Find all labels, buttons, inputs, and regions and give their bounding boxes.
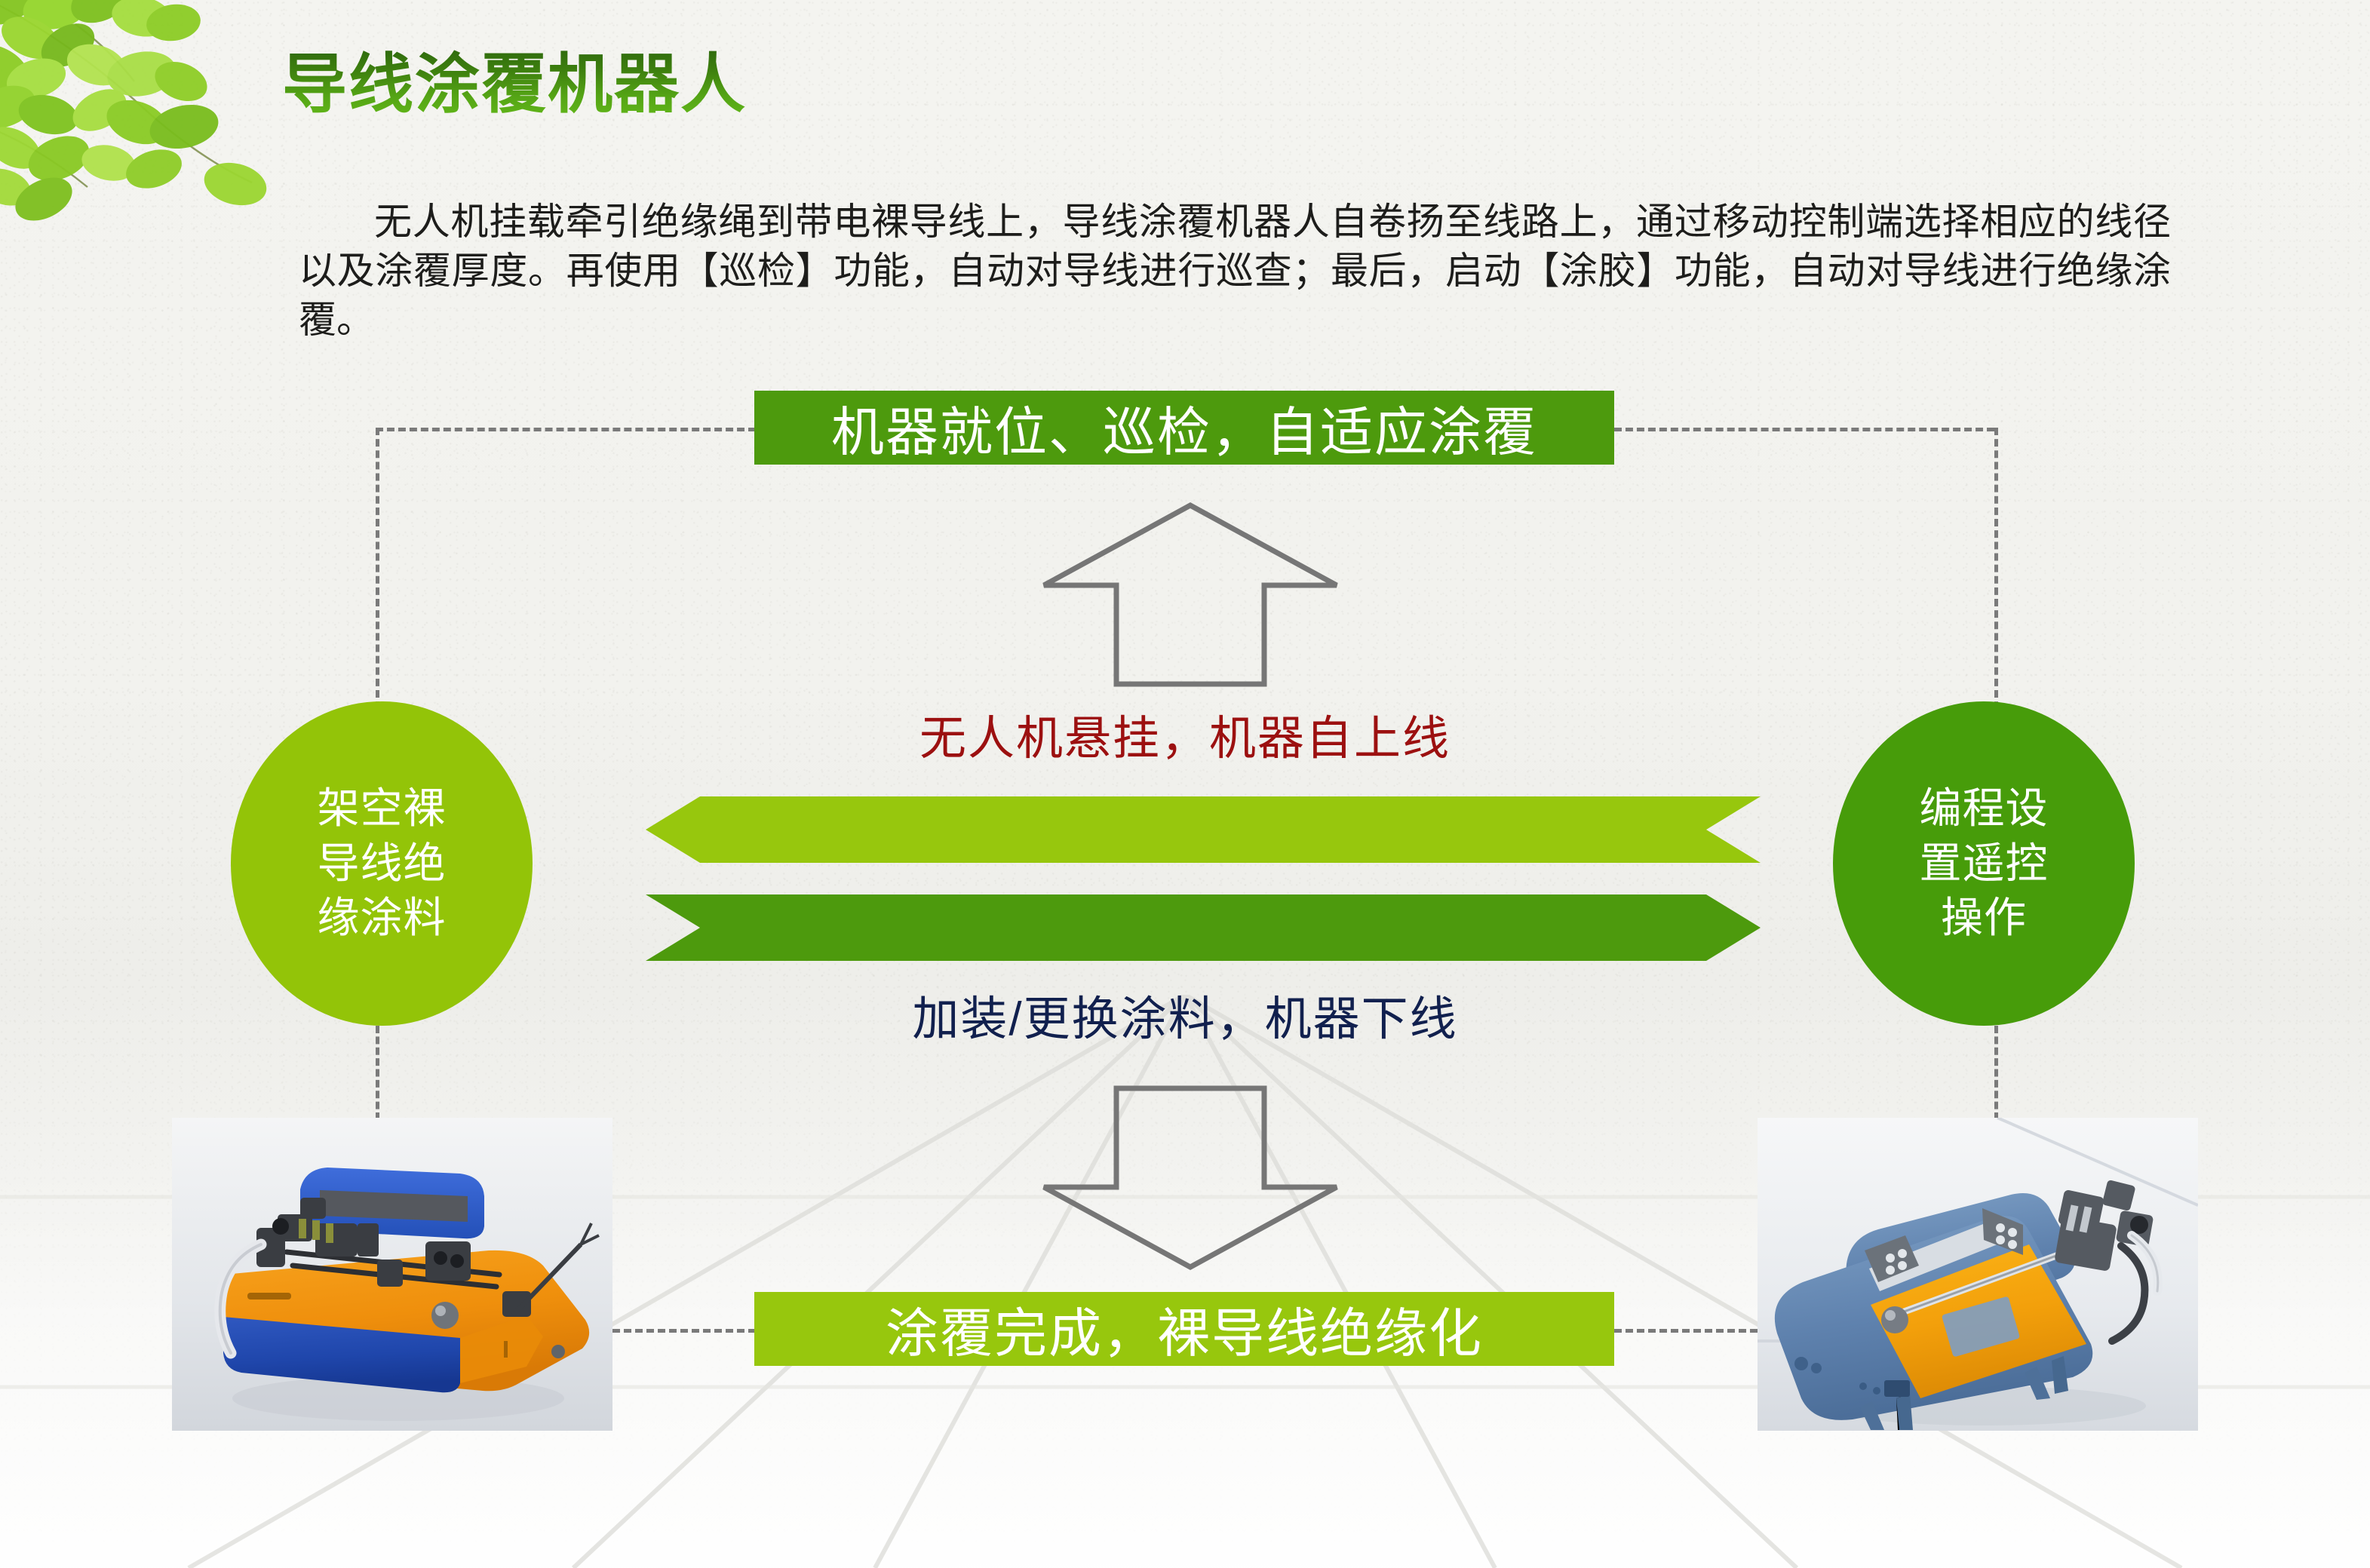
circle-right-line3: 操作	[1920, 891, 2049, 946]
circle-right-line1: 编程设	[1920, 781, 2049, 836]
circle-right-line2: 置遥控	[1920, 836, 2049, 891]
dashed-line-top-right	[1614, 428, 1994, 431]
circle-left-line2: 导线绝	[318, 836, 447, 891]
page-title: 导线涂覆机器人	[282, 50, 747, 120]
dashed-line-bottom-right	[1614, 1329, 1758, 1333]
arrow-down-icon	[1039, 1084, 1341, 1272]
circle-left-line1: 架空裸	[318, 781, 447, 836]
banner-top-label: 机器就位、巡检，自适应涂覆	[831, 390, 1537, 466]
arrow-up-svg	[1039, 501, 1341, 689]
arrow-down-svg	[1039, 1084, 1341, 1272]
intro-paragraph: 无人机挂载牵引绝缘绳到带电裸导线上，导线涂覆机器人自卷扬至线路上，通过移动控制端…	[299, 198, 2171, 345]
circle-right-remote-programming[interactable]: 编程设 置遥控 操作	[1833, 701, 2135, 1026]
robot-photo-left-svg	[172, 1118, 612, 1431]
banner-bottom[interactable]: 涂覆完成，裸导线绝缘化	[754, 1292, 1614, 1366]
circle-left-line3: 缘涂料	[318, 891, 447, 946]
banner-top[interactable]: 机器就位、巡检，自适应涂覆	[754, 391, 1614, 465]
arrow-up-icon	[1039, 501, 1341, 689]
chevron-arrow-right	[646, 894, 1761, 961]
dashed-line-top-left	[376, 428, 756, 431]
banner-bottom-label: 涂覆完成，裸导线绝缘化	[886, 1291, 1483, 1367]
leaves-decoration-icon	[0, 0, 288, 253]
robot-photo-left	[172, 1118, 612, 1431]
leaves-svg	[0, 0, 288, 253]
slide-canvas: 导线涂覆机器人 无人机挂载牵引绝缘绳到带电裸导线上，导线涂覆机器人自卷扬至线路上…	[0, 0, 2370, 1568]
robot-photo-right	[1758, 1118, 2198, 1431]
dashed-line-bottom-left	[612, 1329, 756, 1333]
robot-photo-right-svg	[1758, 1118, 2198, 1431]
circle-left-coating-material[interactable]: 架空裸 导线绝 缘涂料	[231, 701, 533, 1026]
chevron-arrow-left	[646, 796, 1761, 863]
